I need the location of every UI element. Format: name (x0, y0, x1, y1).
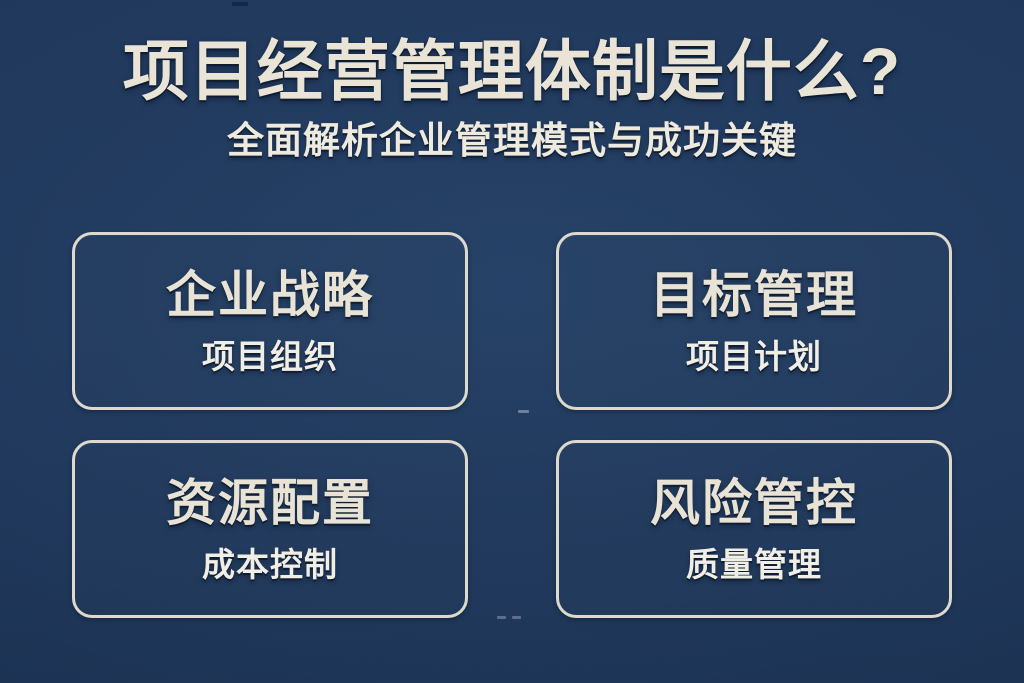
card-title: 企业战略 (166, 270, 374, 320)
page-title: 项目经营管理体制是什么? (0, 36, 1024, 107)
card-title: 目标管理 (650, 270, 858, 320)
concept-card-risk-control[interactable]: 风险管控 质量管理 (556, 440, 952, 618)
card-subtitle: 项目计划 (686, 340, 822, 373)
concept-card-goal-management[interactable]: 目标管理 项目计划 (556, 232, 952, 410)
card-subtitle: 成本控制 (202, 548, 338, 581)
concept-card-grid: 企业战略 项目组织 目标管理 项目计划 资源配置 成本控制 风险管控 质量管理 (72, 232, 952, 620)
concept-card-enterprise-strategy[interactable]: 企业战略 项目组织 (72, 232, 468, 410)
header-block: 项目经营管理体制是什么? 全面解析企业管理模式与成功关键 (0, 36, 1024, 162)
concept-card-resource-allocation[interactable]: 资源配置 成本控制 (72, 440, 468, 618)
poster-canvas: 项目经营管理体制是什么? 全面解析企业管理模式与成功关键 企业战略 项目组织 目… (0, 0, 1024, 683)
card-title: 资源配置 (166, 478, 374, 528)
compression-artifact (232, 2, 248, 6)
card-title: 风险管控 (650, 478, 858, 528)
card-subtitle: 项目组织 (202, 340, 338, 373)
page-subtitle: 全面解析企业管理模式与成功关键 (0, 121, 1024, 162)
card-subtitle: 质量管理 (686, 548, 822, 581)
